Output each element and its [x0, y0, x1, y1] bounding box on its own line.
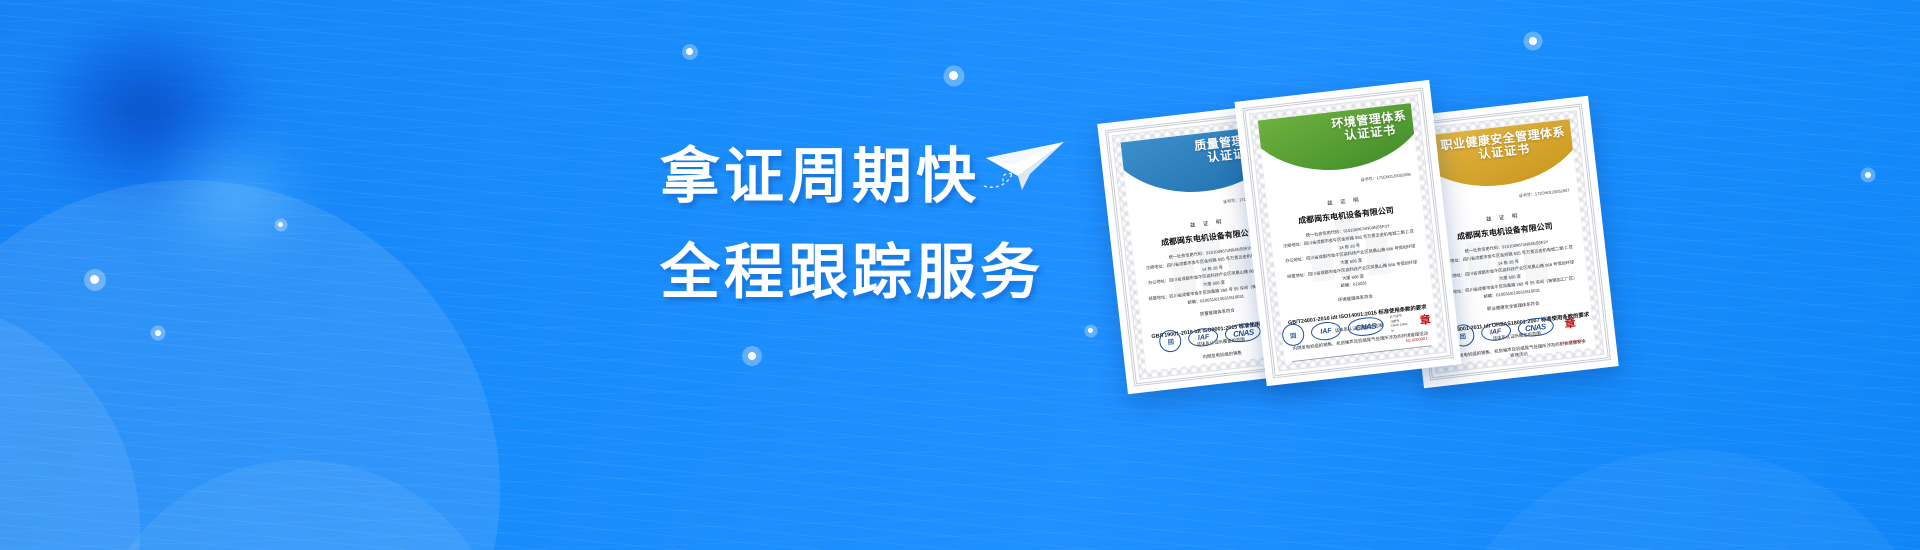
- cn-certification-seal-icon: 回: [1159, 329, 1183, 353]
- sparkle-dot: [686, 48, 693, 55]
- red-stamp-icon: 章: [1414, 309, 1436, 331]
- certificate-watermark: [1449, 202, 1566, 300]
- paper-plane-icon: [978, 138, 1070, 196]
- audit-cell: 第一次监审: [1292, 357, 1328, 363]
- audit-cell: 有效期: [1396, 345, 1432, 363]
- sparkle-dot: [90, 275, 99, 284]
- audit-cell: 第二次监审: [1224, 364, 1260, 371]
- iaf-seal-icon: IAF: [1480, 321, 1512, 342]
- audit-cell: 第二次监审: [1362, 349, 1398, 363]
- certificate-watermark: [1291, 194, 1408, 292]
- hero-headline: 拿证周期快 全程跟踪服务: [660, 142, 1300, 308]
- red-stamp-icon: 章: [1559, 312, 1581, 334]
- audit-cell: 有效期: [1555, 360, 1591, 365]
- cnas-note: 认可证书注册号CNAS C000-M: [1390, 313, 1410, 333]
- certificate-serial: No.0000001: [1405, 336, 1427, 343]
- iaf-seal-icon: IAF: [1188, 327, 1220, 348]
- sparkle-dot: [949, 71, 958, 80]
- certification-hero-banner: 拿证周期快 全程跟踪服务 质量管理体系 认证证书: [0, 0, 1920, 550]
- cnas-seal-icon: CNAS: [1347, 316, 1385, 338]
- audit-cell: 有效期: [1327, 353, 1363, 363]
- cnas-seal-icon: CNAS: [1224, 322, 1262, 344]
- sparkle-dot: [1529, 37, 1537, 45]
- sparkle-dot: [278, 222, 283, 227]
- iaf-seal-icon: IAF: [1310, 320, 1342, 341]
- sparkle-dot: [1088, 328, 1093, 333]
- audit-cell: 第三次监审: [1520, 364, 1556, 365]
- cn-certification-seal-icon: 回: [1281, 323, 1305, 347]
- certificate-number: 证书号：171EN0120052056: [1360, 172, 1411, 184]
- certificate-number: 证书号：171OH0120052057: [1519, 187, 1570, 199]
- audit-cell: 有效期: [1189, 368, 1225, 371]
- sparkle-dot: [748, 352, 756, 360]
- sparkle-dot: [155, 330, 161, 336]
- headline-line-2: 全程跟踪服务: [660, 238, 1300, 308]
- cnas-seal-icon: CNAS: [1516, 316, 1554, 338]
